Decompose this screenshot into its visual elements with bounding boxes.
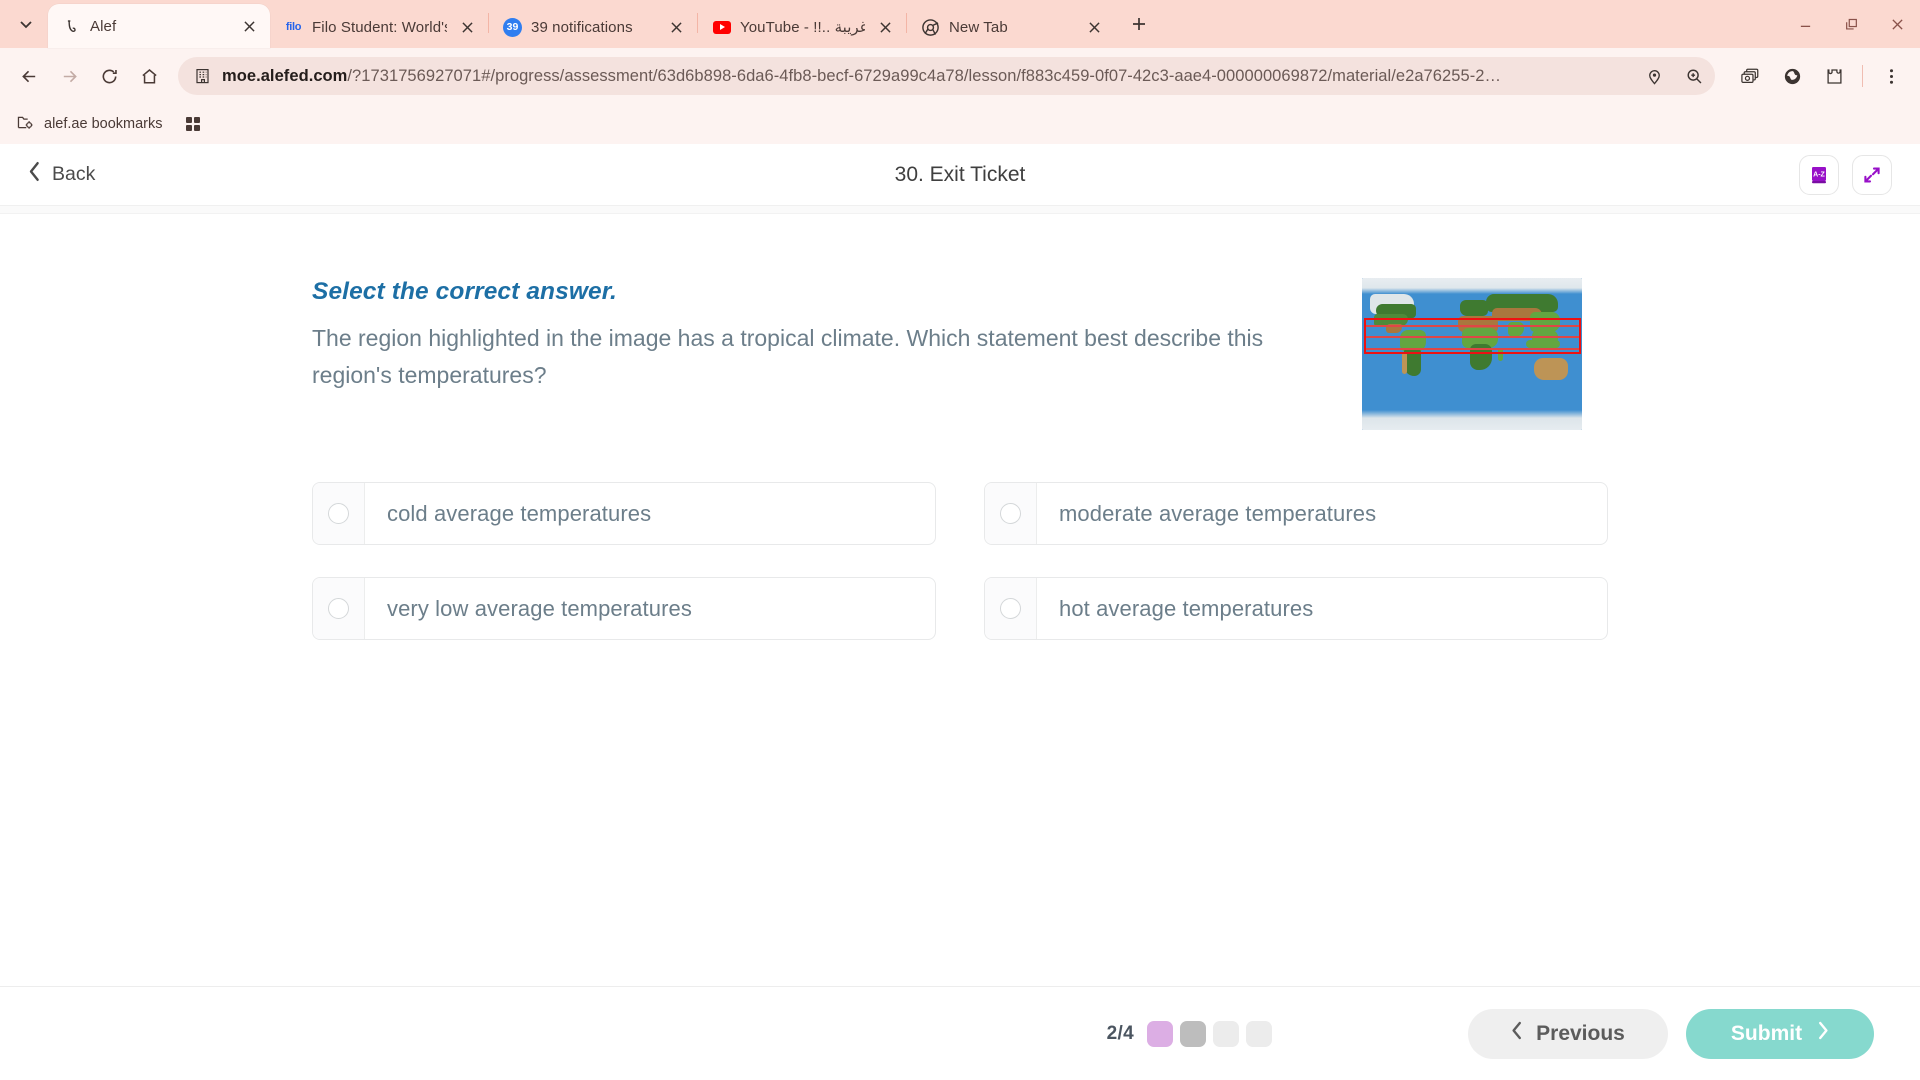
browser-menu-button[interactable] [1872,57,1910,95]
home-icon [140,67,159,86]
previous-label: Previous [1536,1022,1625,1046]
arrow-right-icon [60,67,79,86]
chevron-left-icon [1511,1021,1523,1046]
progress-pip-1[interactable] [1147,1021,1173,1047]
apps-grid-button[interactable] [184,115,202,133]
option-hot-average-temperatures[interactable]: hot average temperatures [984,577,1608,640]
tab-title: Alef [90,18,229,35]
arrow-left-icon [20,67,39,86]
chrome-tab-stack-icon [1740,66,1761,87]
submit-button[interactable]: Submit [1686,1009,1874,1059]
question-prompt: Select the correct answer. [312,278,1332,306]
bookmarks-bar: alef.ae bookmarks [0,104,1920,144]
tab-title: YouTube - !!.. تصرفات غريبة [740,18,865,36]
option-moderate-average-temperatures[interactable]: moderate average temperatures [984,482,1608,545]
home-button[interactable] [130,57,168,95]
answer-options: cold average temperatures moderate avera… [312,482,1608,640]
filo-logo-icon: filo [284,18,303,37]
map-land-andes [1402,352,1407,374]
option-radio-cell[interactable] [985,578,1037,639]
header-separator [0,206,1920,214]
question-image-world-map[interactable] [1362,278,1582,430]
tab-title: New Tab [949,19,1074,36]
question-row: Select the correct answer. The region hi… [312,278,1608,430]
map-land-australia [1534,358,1568,380]
tab-filo-student[interactable]: filo Filo Student: World's Only Live I [270,6,488,48]
option-label: moderate average temperatures [1037,483,1398,544]
forward-button[interactable] [50,57,88,95]
question-content: Select the correct answer. The region hi… [0,214,1920,986]
reload-button[interactable] [90,57,128,95]
close-icon [1891,18,1904,31]
map-land-europe [1460,300,1488,316]
option-radio-cell[interactable] [985,483,1037,544]
reload-icon [100,67,119,86]
option-label: cold average temperatures [365,483,673,544]
close-icon[interactable] [665,16,687,38]
tab-new-tab[interactable]: New Tab [907,6,1115,48]
bookmark-alef-ae[interactable]: alef.ae bookmarks [12,110,166,139]
youtube-icon [712,18,731,37]
radio-button[interactable] [1000,598,1021,619]
map-highlight-rectangle [1364,318,1581,354]
minimize-icon [1799,18,1812,31]
option-very-low-average-temperatures[interactable]: very low average temperatures [312,577,936,640]
browser-toolbar: moe.alefed.com/?1731756927071#/progress/… [0,48,1920,104]
fullscreen-button[interactable] [1852,155,1892,195]
back-link[interactable]: Back [28,161,95,188]
radio-button[interactable] [328,503,349,524]
folder-gear-icon [16,113,35,136]
close-icon[interactable] [874,16,896,38]
close-icon[interactable] [1083,16,1105,38]
progress-pips [1147,1021,1272,1047]
restore-icon [1845,18,1858,31]
new-tab-button[interactable] [1119,4,1159,44]
tab-strip: Alef filo Filo Student: World's Only Liv… [0,0,1920,48]
zoom-in-icon[interactable] [1679,61,1709,91]
location-pin-icon[interactable] [1639,61,1669,91]
question-text-column: Select the correct answer. The region hi… [312,278,1332,395]
tab-search-button[interactable] [4,4,48,44]
az-book-icon: A-Z [1808,164,1830,186]
chevron-left-icon [28,161,41,188]
option-label: very low average temperatures [365,578,714,639]
back-button[interactable] [10,57,48,95]
chrome-icon [921,18,940,37]
url-path: /?1731756927071#/progress/assessment/63d… [347,67,1501,85]
notification-badge-icon: 39 [503,18,522,37]
close-window-button[interactable] [1874,4,1920,44]
page-viewport: Back 30. Exit Ticket A-Z [0,144,1920,1080]
expand-arrows-icon [1861,164,1883,186]
toolbar-right-icons [1725,57,1910,95]
assessment-footer: 2/4 Previous Submit [0,986,1920,1080]
url-text: moe.alefed.com/?1731756927071#/progress/… [222,67,1629,86]
tab-title: Filo Student: World's Only Live I [312,19,447,36]
alef-logo-icon [62,17,81,36]
page-counter: 2/4 [1107,1023,1134,1045]
close-icon[interactable] [456,16,478,38]
apps-grid-icon [184,115,202,133]
radio-button[interactable] [1000,503,1021,524]
tab-alef[interactable]: Alef [48,4,270,48]
close-icon[interactable] [238,15,260,37]
copilot-button[interactable] [1773,57,1811,95]
option-radio-cell[interactable] [313,483,365,544]
back-label: Back [52,163,95,186]
chevron-right-icon [1817,1021,1829,1046]
chrome-tab-stack-button[interactable] [1731,57,1769,95]
plus-icon [1131,16,1147,32]
copilot-icon [1782,66,1803,87]
page-title: 30. Exit Ticket [0,163,1920,187]
window-controls [1782,0,1920,48]
address-bar[interactable]: moe.alefed.com/?1731756927071#/progress/… [178,57,1715,95]
tab-notifications[interactable]: 39 39 notifications [489,6,697,48]
bookmark-label: alef.ae bookmarks [44,116,162,132]
extensions-button[interactable] [1815,57,1853,95]
question-inner: Select the correct answer. The region hi… [312,278,1608,640]
glossary-button[interactable]: A-Z [1799,155,1839,195]
minimize-button[interactable] [1782,4,1828,44]
option-radio-cell[interactable] [313,578,365,639]
progress-pip-4[interactable] [1246,1021,1272,1047]
maximize-button[interactable] [1828,4,1874,44]
svg-text:A-Z: A-Z [1813,171,1825,178]
notification-count: 39 [503,18,522,37]
map-antarctic-ice [1362,410,1582,430]
question-body: The region highlighted in the image has … [312,320,1332,395]
chevron-down-icon [18,16,34,32]
progress-pip-3[interactable] [1213,1021,1239,1047]
submit-label: Submit [1731,1022,1802,1046]
progress-pip-2[interactable] [1180,1021,1206,1047]
lesson-header: Back 30. Exit Ticket A-Z [0,144,1920,206]
building-icon [194,67,212,85]
radio-button[interactable] [328,598,349,619]
question-wrapper: Select the correct answer. The region hi… [0,214,1920,640]
toolbar-divider [1862,65,1863,87]
tab-youtube[interactable]: YouTube - !!.. تصرفات غريبة [698,6,906,48]
question-pager: 2/4 [1107,1021,1272,1047]
header-actions: A-Z [1799,155,1892,195]
browser-window: Alef filo Filo Student: World's Only Liv… [0,0,1920,1080]
map-arctic-ice [1362,278,1582,294]
previous-button[interactable]: Previous [1468,1009,1668,1059]
three-dot-menu-icon [1881,66,1902,87]
option-cold-average-temperatures[interactable]: cold average temperatures [312,482,936,545]
option-label: hot average temperatures [1037,578,1335,639]
extensions-puzzle-icon [1824,66,1845,87]
url-host: moe.alefed.com [222,67,347,85]
tab-title: 39 notifications [531,19,656,36]
